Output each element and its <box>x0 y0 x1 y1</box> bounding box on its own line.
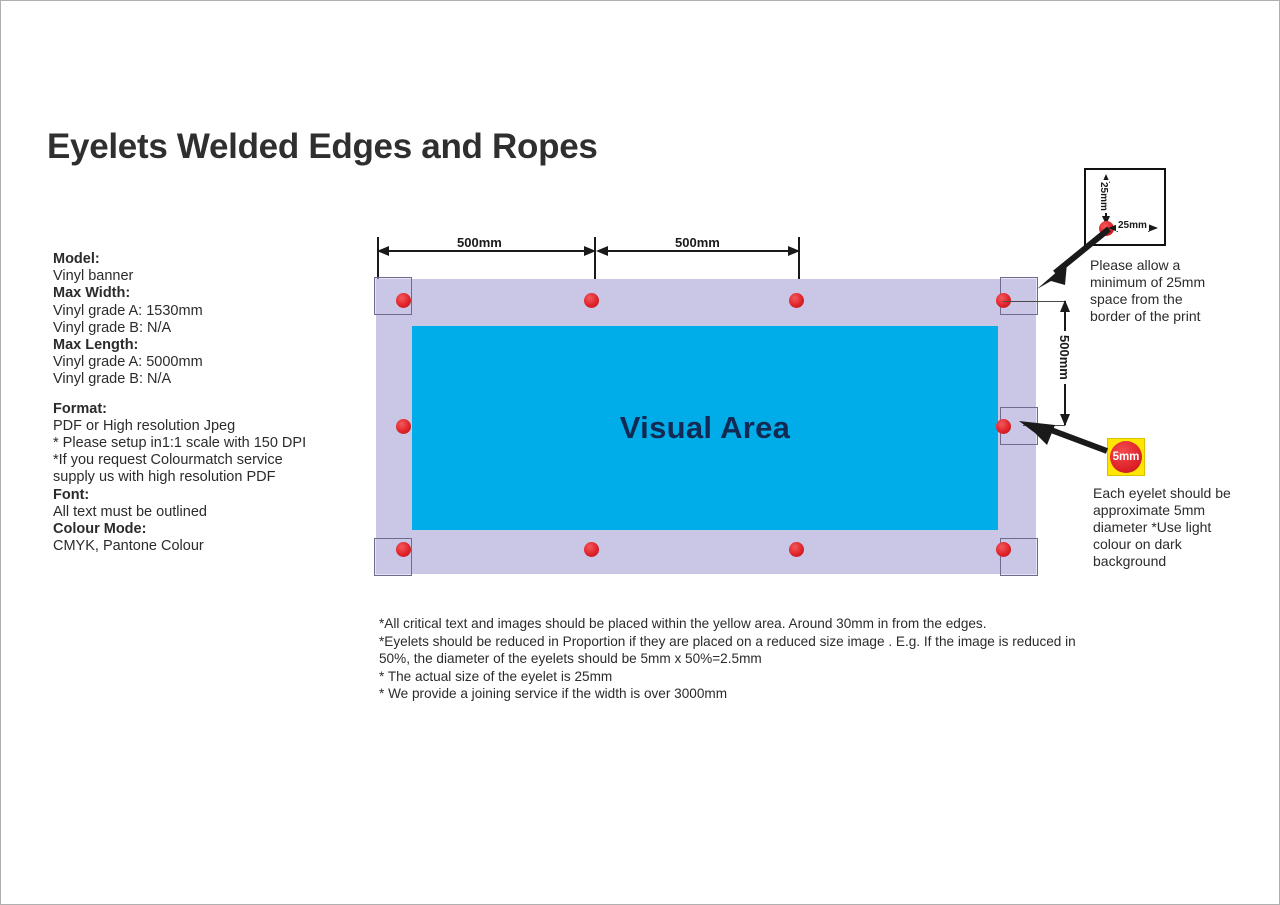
dim-label-right-vertical: 500mm <box>1057 331 1072 384</box>
spec-colour-value: CMYK, Pantone Colour <box>53 538 204 554</box>
dim-arrow-right-start-icon <box>596 244 610 258</box>
spec-max-length-b: Vinyl grade B: N/A <box>53 371 171 387</box>
visual-area: Visual Area <box>412 326 998 530</box>
detail-note-text: Please allow a minimum of 25mm space fro… <box>1090 257 1208 325</box>
eyelet-top-centre-left <box>584 293 599 308</box>
eyelet-middle-left <box>396 419 411 434</box>
eyelet-swatch-note-text: Each eyelet should be approximate 5mm di… <box>1093 485 1235 570</box>
diagram-page: Eyelets Welded Edges and Ropes Model: Vi… <box>0 0 1280 905</box>
dim-line-top-left <box>379 250 593 252</box>
spec-spacer <box>53 389 363 401</box>
eyelet-bottom-left <box>396 542 411 557</box>
bottom-notes-block: *All critical text and images should be … <box>379 615 1079 703</box>
visual-area-label: Visual Area <box>620 410 790 446</box>
spec-format-value: PDF or High resolution Jpeg <box>53 418 235 434</box>
dim-line-top-right <box>598 250 798 252</box>
dim-label-top-right: 500mm <box>671 235 724 250</box>
spec-colour-label: Colour Mode: <box>53 521 146 537</box>
detail-dim-label-vertical: 25mm <box>1098 180 1109 213</box>
eyelet-top-centre-right <box>789 293 804 308</box>
specification-block: Model: Vinyl banner Max Width: Vinyl gra… <box>53 251 363 555</box>
spec-font-value: All text must be outlined <box>53 504 207 520</box>
detail-dim-label-horizontal: 25mm <box>1116 220 1149 231</box>
spec-model-value: Vinyl banner <box>53 268 133 284</box>
spec-format-note2: *If you request Colourmatch service <box>53 452 283 468</box>
eyelet-size-swatch-circle: 5mm <box>1110 441 1142 473</box>
spec-max-length-a: Vinyl grade A: 5000mm <box>53 354 203 370</box>
spec-model-label: Model: <box>53 251 100 267</box>
dim-leader-line-top <box>1003 301 1065 302</box>
eyelet-top-right <box>996 293 1011 308</box>
bottom-note-3: * The actual size of the eyelet is 25mm <box>379 668 1079 686</box>
dim-arrow-left-end-icon <box>582 244 596 258</box>
bottom-note-2: *Eyelets should be reduced in Proportion… <box>379 633 1079 668</box>
spec-format-note1: * Please setup in1:1 scale with 150 DPI <box>53 435 306 451</box>
spec-max-length-label: Max Length: <box>53 337 138 353</box>
page-title: Eyelets Welded Edges and Ropes <box>47 127 598 167</box>
spec-max-width-label: Max Width: <box>53 285 130 301</box>
eyelet-bottom-right <box>996 542 1011 557</box>
spec-max-width-b: Vinyl grade B: N/A <box>53 320 171 336</box>
eyelet-top-left <box>396 293 411 308</box>
bottom-note-1: *All critical text and images should be … <box>379 615 1079 633</box>
eyelet-bottom-centre-right <box>789 542 804 557</box>
bottom-note-4: * We provide a joining service if the wi… <box>379 685 1079 703</box>
dim-arrow-vertical-top-icon <box>1058 300 1072 314</box>
eyelet-size-swatch-label: 5mm <box>1113 451 1140 463</box>
callout-arrow-bottom-icon <box>1007 411 1113 457</box>
spec-format-note3: supply us with high resolution PDF <box>53 469 275 485</box>
dim-label-top-left: 500mm <box>453 235 506 250</box>
spec-font-label: Font: <box>53 487 89 503</box>
dim-arrow-left-start-icon <box>377 244 391 258</box>
eyelet-bottom-centre-left <box>584 542 599 557</box>
banner-artwork: Visual Area <box>376 279 1036 574</box>
spec-format-label: Format: <box>53 401 107 417</box>
spec-max-width-a: Vinyl grade A: 1530mm <box>53 303 203 319</box>
dim-arrow-right-end-icon <box>786 244 800 258</box>
